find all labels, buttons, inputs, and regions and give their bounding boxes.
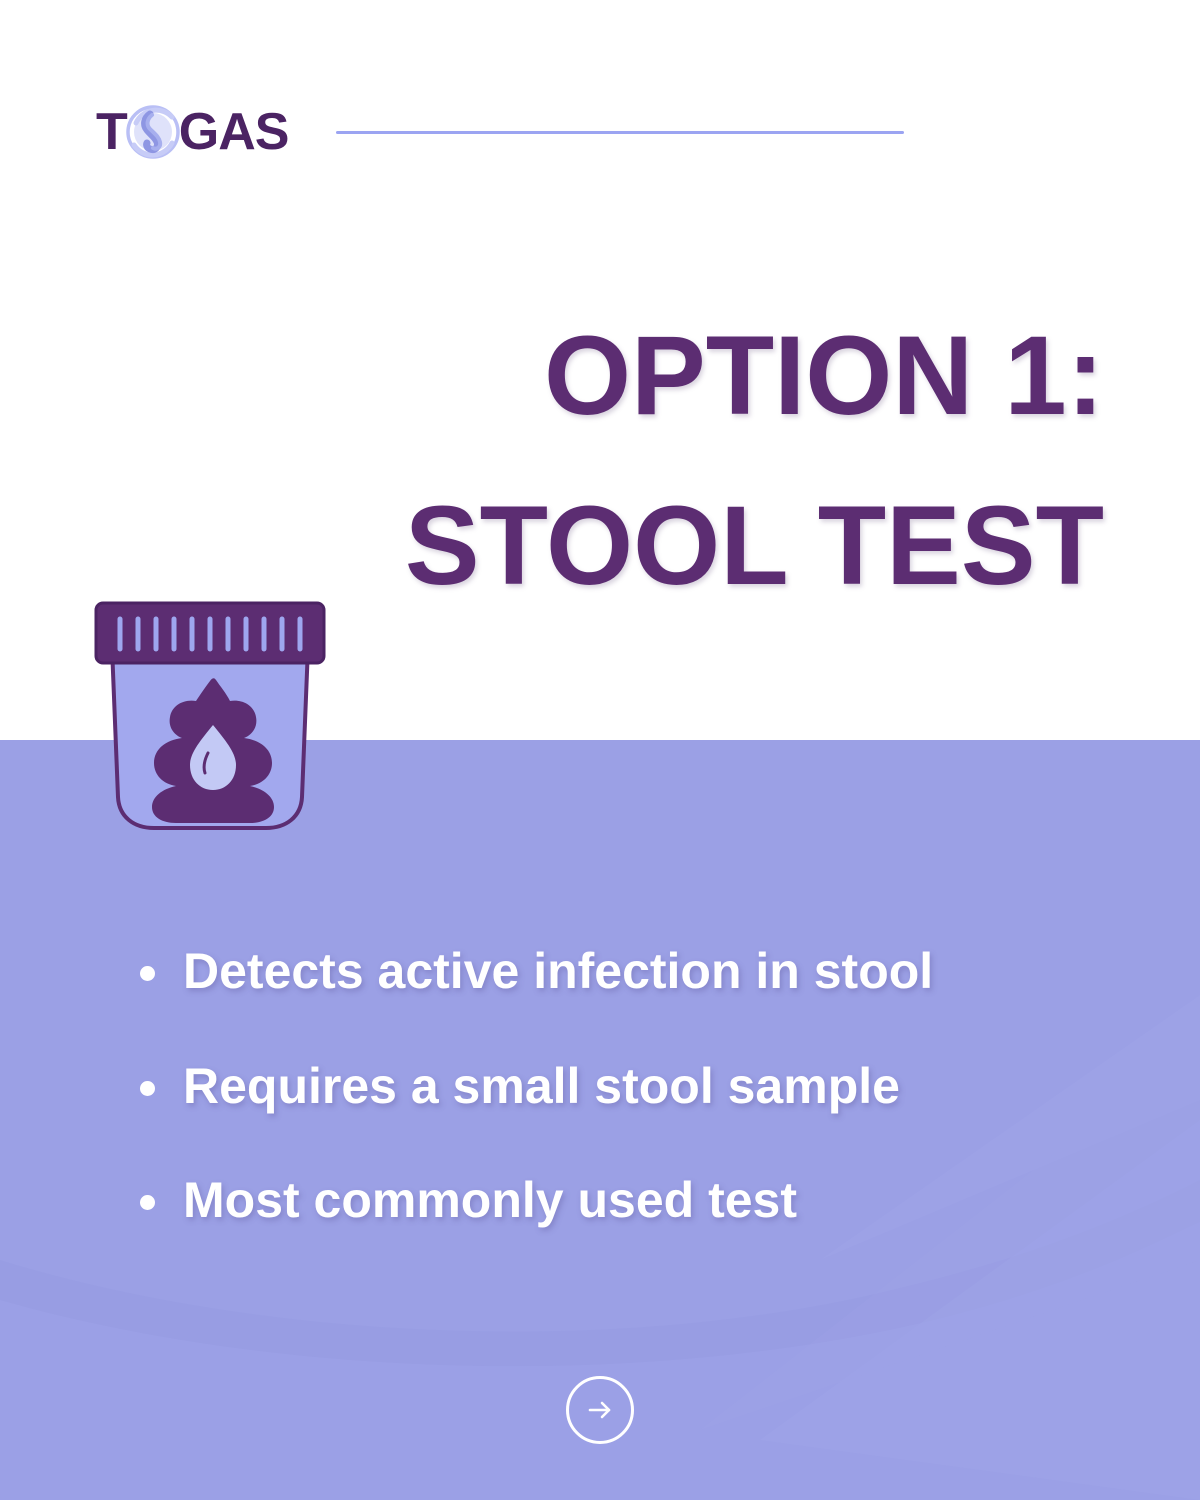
- next-slide-button[interactable]: [566, 1376, 634, 1444]
- stool-specimen-cup-illustration: [80, 585, 340, 840]
- header: T GAS: [96, 96, 1106, 168]
- bullet-text: Most commonly used test: [183, 1169, 797, 1232]
- title-line-2: STOOL TEST: [384, 490, 1104, 602]
- logo-text-post: GAS: [179, 106, 289, 158]
- bullet-list: Detects active infection in stool Requir…: [140, 940, 1100, 1232]
- bullet-dot-icon: [140, 1195, 155, 1210]
- arrow-right-icon: [582, 1392, 618, 1428]
- title-line-1: OPTION 1:: [384, 320, 1104, 432]
- header-divider: [336, 131, 904, 134]
- list-item: Requires a small stool sample: [140, 1055, 1100, 1118]
- slide-canvas: T GAS OPTION 1: STOOL TEST: [0, 0, 1200, 1500]
- page-title: OPTION 1: STOOL TEST: [384, 320, 1104, 602]
- list-item: Most commonly used test: [140, 1169, 1100, 1232]
- bullet-dot-icon: [140, 966, 155, 981]
- bullet-dot-icon: [140, 1081, 155, 1096]
- bullet-text: Requires a small stool sample: [183, 1055, 900, 1118]
- brand-logo[interactable]: T GAS: [96, 99, 288, 165]
- stomach-circle-icon: [122, 101, 184, 163]
- list-item: Detects active infection in stool: [140, 940, 1100, 1003]
- bullet-text: Detects active infection in stool: [183, 940, 933, 1003]
